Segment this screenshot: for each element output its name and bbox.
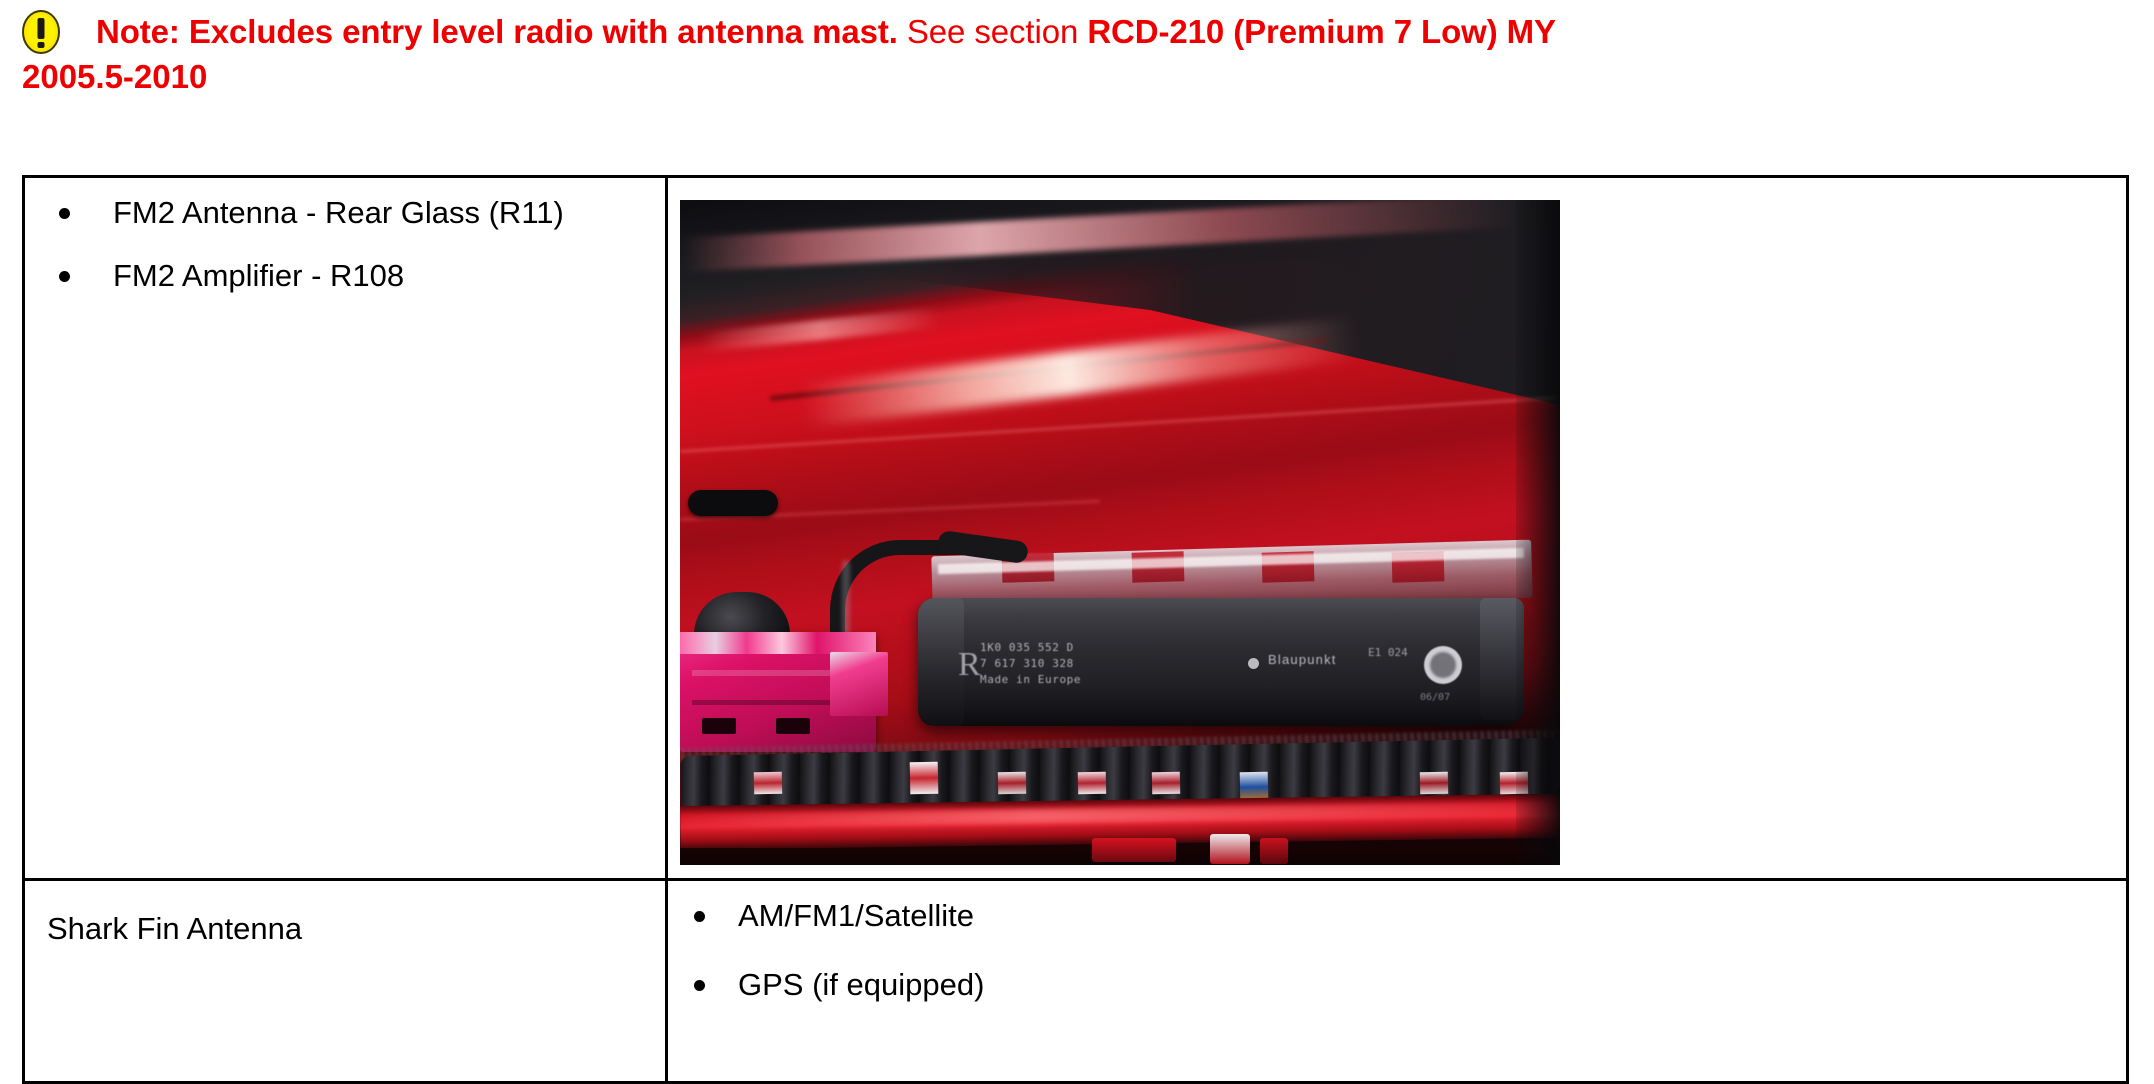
- row1-left-cell: FM2 Antenna - Rear Glass (R11) FM2 Ampli…: [24, 177, 667, 880]
- photo-latch-part: [1210, 834, 1250, 864]
- photo-connector-tab: [776, 718, 810, 734]
- photo-right-edge-shadow: [1516, 200, 1560, 865]
- photo-amplifier-r-mark: R: [958, 646, 981, 684]
- list-item: AM/FM1/Satellite: [682, 895, 2116, 936]
- table-row: Shark Fin Antenna AM/FM1/Satellite GPS (…: [24, 880, 2128, 1083]
- photo-wire-strand: [998, 772, 1026, 795]
- list-item: FM2 Amplifier - R108: [39, 255, 655, 296]
- photo-wire-strand: [910, 762, 939, 795]
- photo-connector-tab: [702, 718, 736, 734]
- photo-latch-part: [1092, 838, 1176, 862]
- photo-vw-logo-inner: [1430, 652, 1456, 678]
- fm2-amplifier-trunk-photo: R 1K0 035 552 D 7 617 310 328 Made in Eu…: [680, 200, 1560, 865]
- row1-right-cell: R 1K0 035 552 D 7 617 310 328 Made in Eu…: [667, 177, 2128, 880]
- photo-connector-nose: [830, 652, 888, 716]
- antenna-spec-table: FM2 Antenna - Rear Glass (R11) FM2 Ampli…: [22, 175, 2129, 1084]
- row2-bullet-list: AM/FM1/Satellite GPS (if equipped): [682, 895, 2116, 1005]
- note-banner: Note: Excludes entry level radio with an…: [0, 0, 2154, 97]
- photo-wire-strand: [1078, 772, 1106, 795]
- list-item: FM2 Antenna - Rear Glass (R11): [39, 192, 655, 233]
- photo-amplifier-part-label: 1K0 035 552 D 7 617 310 328 Made in Euro…: [980, 640, 1500, 698]
- photo-connector-rib: [692, 670, 842, 676]
- photo-label-line: 7 617 310 328: [980, 656, 1500, 672]
- table-row: FM2 Antenna - Rear Glass (R11) FM2 Ampli…: [24, 177, 2128, 880]
- photo-amplifier-e-code: E1 024: [1368, 646, 1410, 680]
- list-item: GPS (if equipped): [682, 964, 2116, 1005]
- photo-latch-part: [1260, 838, 1288, 864]
- photo-fakra-connector-top: [680, 632, 876, 654]
- note-line-1: Note: Excludes entry level radio with an…: [0, 10, 2154, 54]
- photo-amplifier-date-code: 06/07: [1420, 692, 1450, 703]
- note-text-line2: 2005.5-2010: [22, 56, 2154, 97]
- row2-left-cell: Shark Fin Antenna: [24, 880, 667, 1083]
- photo-wire-strand: [1420, 772, 1448, 795]
- photo-wire-strand: [754, 772, 782, 795]
- warning-exclamation-icon: [20, 10, 62, 54]
- shark-fin-antenna-label: Shark Fin Antenna: [39, 895, 655, 949]
- note-bold-a: Note: Excludes entry level radio with an…: [96, 13, 898, 50]
- row1-bullet-list: FM2 Antenna - Rear Glass (R11) FM2 Ampli…: [39, 192, 655, 296]
- note-regular: See section: [907, 13, 1078, 50]
- photo-brand-dot: [1248, 658, 1259, 669]
- photo-amplifier-brand: Blaupunkt: [1268, 652, 1337, 667]
- note-text-line1: Note: Excludes entry level radio with an…: [96, 11, 1556, 54]
- photo-label-line: Made in Europe: [980, 672, 1500, 688]
- photo-label-line: 1K0 035 552 D: [980, 640, 1500, 656]
- row2-right-cell: AM/FM1/Satellite GPS (if equipped): [667, 880, 2128, 1083]
- photo-panel-slot: [688, 490, 778, 516]
- photo-wire-strand: [1152, 772, 1180, 795]
- note-bold-b: RCD-210 (Premium 7 Low) MY: [1087, 13, 1556, 50]
